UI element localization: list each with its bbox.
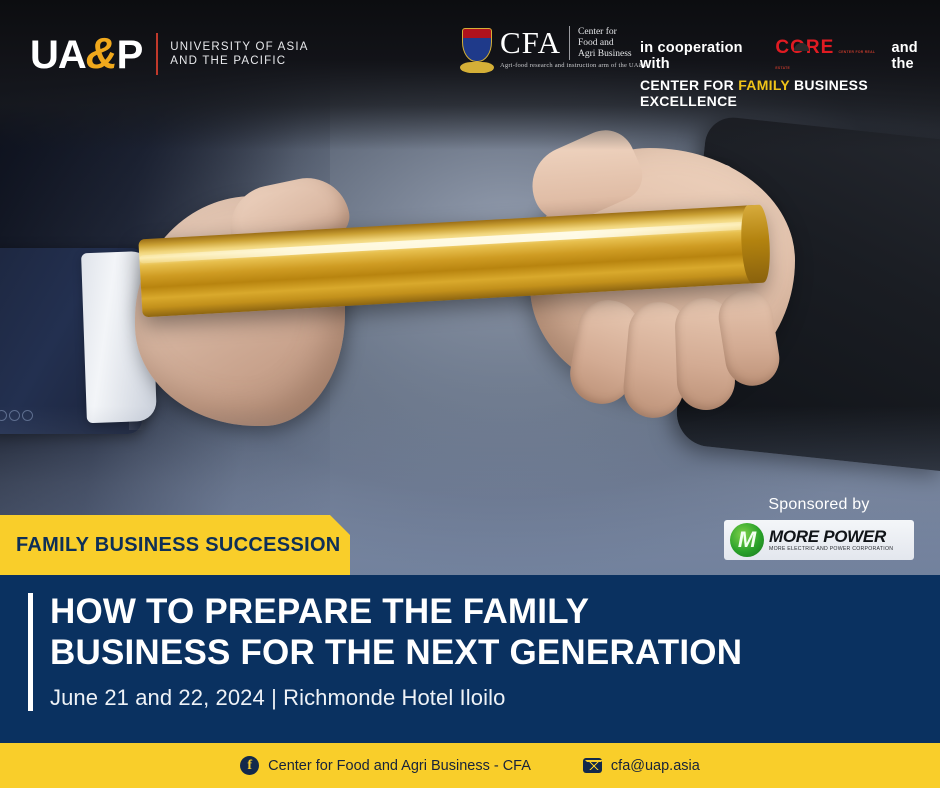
cfa-divider (569, 26, 570, 60)
shield-crest-icon (460, 26, 494, 74)
cfa-sub-line3: Agri Business (578, 49, 632, 60)
title-line-1: HOW TO PREPARE THE FAMILY (50, 591, 910, 632)
cfa-main-row: CFA Center for Food and Agri Business (500, 26, 648, 60)
facebook-label: Center for Food and Agri Business - CFA (268, 758, 531, 774)
cfbe-pre: CENTER FOR (640, 77, 738, 93)
cooperation-suffix: and the (891, 40, 940, 72)
uap-ampersand: & (86, 29, 117, 78)
cfbe-highlight: FAMILY (738, 77, 790, 93)
uap-name-line1: UNIVERSITY OF ASIA (170, 40, 308, 54)
header: UA&P UNIVERSITY OF ASIA AND THE PACIFIC … (0, 0, 940, 110)
uap-mark-post: P (117, 33, 143, 77)
email-label: cfa@uap.asia (611, 758, 700, 774)
email-contact[interactable]: cfa@uap.asia (583, 758, 700, 774)
cfa-fullname: Center for Food and Agri Business (578, 27, 632, 60)
sponsor-block: Sponsored by MORE POWER MORE ELECTRIC AN… (724, 496, 914, 560)
more-power-name: MORE POWER (769, 528, 893, 545)
uap-logo: UA&P UNIVERSITY OF ASIA AND THE PACIFIC (30, 32, 309, 76)
title-band: HOW TO PREPARE THE FAMILY BUSINESS FOR T… (0, 575, 940, 743)
sponsor-label: Sponsored by (724, 496, 914, 514)
facebook-icon: f (240, 756, 259, 775)
uap-mark-pre: UA (30, 33, 86, 77)
crest-shield (462, 28, 492, 62)
more-power-subtitle: MORE ELECTRIC AND POWER CORPORATION (769, 546, 893, 552)
cooperation-line2: CENTER FOR FAMILY BUSINESS EXCELLENCE (640, 77, 940, 109)
kicker-banner: FAMILY BUSINESS SUCCESSION (0, 515, 350, 575)
uap-fullname: UNIVERSITY OF ASIA AND THE PACIFIC (170, 40, 308, 68)
title-accent-bar (28, 593, 33, 711)
more-power-text: MORE POWER MORE ELECTRIC AND POWER CORPO… (769, 528, 893, 552)
cooperation-prefix: in cooperation with (640, 40, 765, 72)
cfa-logo: CFA Center for Food and Agri Business Ag… (460, 26, 648, 74)
facebook-contact[interactable]: f Center for Food and Agri Business - CF… (240, 756, 531, 775)
kicker-label: FAMILY BUSINESS SUCCESSION (16, 534, 341, 557)
page-title: HOW TO PREPARE THE FAMILY BUSINESS FOR T… (50, 591, 910, 673)
title-line-2: BUSINESS FOR THE NEXT GENERATION (50, 632, 910, 673)
contact-footer: f Center for Food and Agri Business - CF… (0, 743, 940, 788)
cfa-sub-line1: Center for (578, 27, 632, 38)
more-power-logo: MORE POWER MORE ELECTRIC AND POWER CORPO… (724, 520, 914, 560)
cfa-tagline: Agri-food research and instruction arm o… (500, 62, 648, 69)
crest-ribbon (460, 62, 494, 73)
cooperation-line1: in cooperation with CORE CENTER FOR REAL… (640, 38, 940, 73)
cfa-acronym: CFA (500, 28, 561, 58)
uap-wordmark: UA&P (30, 32, 142, 76)
cfa-sub-line2: Food and (578, 38, 632, 49)
core-logo: CORE CENTER FOR REAL ESTATE (775, 38, 881, 73)
more-power-m-icon (730, 523, 764, 557)
envelope-icon (583, 758, 602, 773)
cooperation-block: in cooperation with CORE CENTER FOR REAL… (640, 38, 940, 109)
event-poster: UA&P UNIVERSITY OF ASIA AND THE PACIFIC … (0, 0, 940, 788)
event-details: June 21 and 22, 2024 | Richmonde Hotel I… (50, 685, 505, 711)
uap-divider (156, 33, 158, 75)
uap-name-line2: AND THE PACIFIC (170, 54, 308, 68)
cfa-text-block: CFA Center for Food and Agri Business Ag… (500, 26, 648, 69)
